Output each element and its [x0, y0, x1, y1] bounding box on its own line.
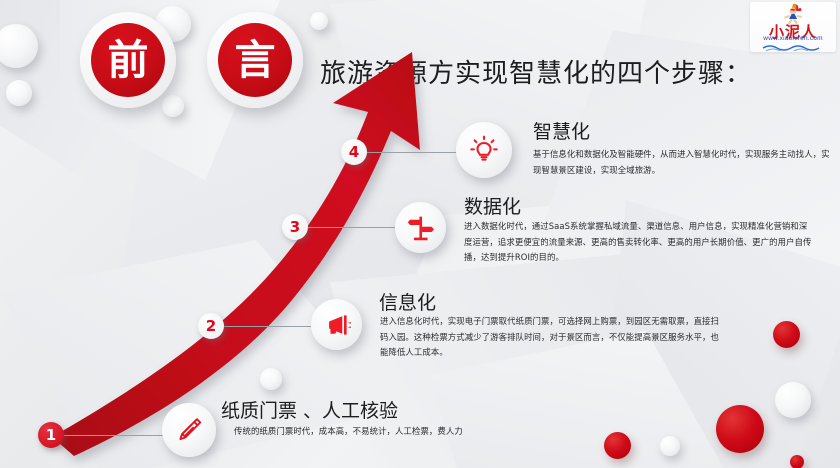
step-icon-circle-1[interactable] [162, 403, 216, 457]
decorative-sphere [6, 80, 32, 106]
step-body-3: 进入数据化时代，通过SaaS系统掌握私域流量、渠道信息、用户信息，实现精准化营销… [464, 219, 814, 266]
step-number-1[interactable]: 1 [38, 422, 64, 448]
decorative-sphere [773, 321, 800, 348]
wave-icon [762, 43, 824, 51]
header-badge-yan: 言 [207, 12, 303, 108]
step-number-3[interactable]: 3 [282, 214, 308, 240]
step-icon-circle-3[interactable] [395, 202, 446, 253]
header-badge-yan-label: 言 [218, 23, 292, 97]
step-body-2: 进入信息化时代，实现电子门票取代纸质门票，可选择网上购票，到园区无需取票，直接扫… [380, 314, 725, 361]
step-icon-circle-4[interactable] [456, 122, 512, 178]
decorative-sphere [716, 405, 764, 453]
step-connector-3 [306, 227, 402, 228]
header-badge-qian-label: 前 [91, 23, 165, 97]
step-heading-1: 纸质门票 、人工核验 [221, 396, 398, 423]
background-facet [330, 0, 650, 220]
step-body-1: 传统的纸质门票时代，成本高，不易统计，人工检票，费人力 [234, 424, 534, 440]
decorative-sphere [660, 436, 680, 456]
decorative-sphere [790, 455, 804, 468]
step-icon-circle-2[interactable] [311, 299, 362, 350]
step-heading-4: 智慧化 [533, 117, 590, 144]
step-heading-2: 信息化 [379, 288, 436, 315]
header-badge-qian: 前 [80, 12, 176, 108]
megaphone-icon [323, 311, 351, 339]
step-connector-2 [222, 326, 318, 327]
decorative-sphere [604, 432, 631, 459]
step-body-4: 基于信息化和数据化及智能硬件，从而进入智慧化时代，实现服务主动找人，实现智慧景区… [533, 147, 831, 178]
decorative-sphere [0, 24, 38, 68]
step-number-2[interactable]: 2 [198, 313, 224, 339]
decorative-sphere [162, 95, 184, 117]
signpost-icon [407, 214, 435, 242]
decorative-sphere [260, 368, 282, 390]
step-connector-4 [365, 152, 461, 153]
slide-canvas: 前 言 旅游资源方实现智慧化的四个步骤： 小泥人 www.xiaoniren.c… [0, 0, 840, 468]
pencil-icon [174, 415, 204, 445]
step-number-4[interactable]: 4 [341, 139, 367, 165]
logo-url: www.xiaoniren.com [750, 35, 836, 42]
step-heading-3: 数据化 [464, 192, 521, 219]
brand-logo[interactable]: 小泥人 www.xiaoniren.com [750, 2, 836, 52]
decorative-sphere [775, 382, 811, 418]
page-title: 旅游资源方实现智慧化的四个步骤： [320, 53, 752, 90]
step-connector-1 [62, 435, 170, 436]
lightbulb-icon [469, 135, 499, 165]
decorative-sphere [310, 12, 328, 30]
